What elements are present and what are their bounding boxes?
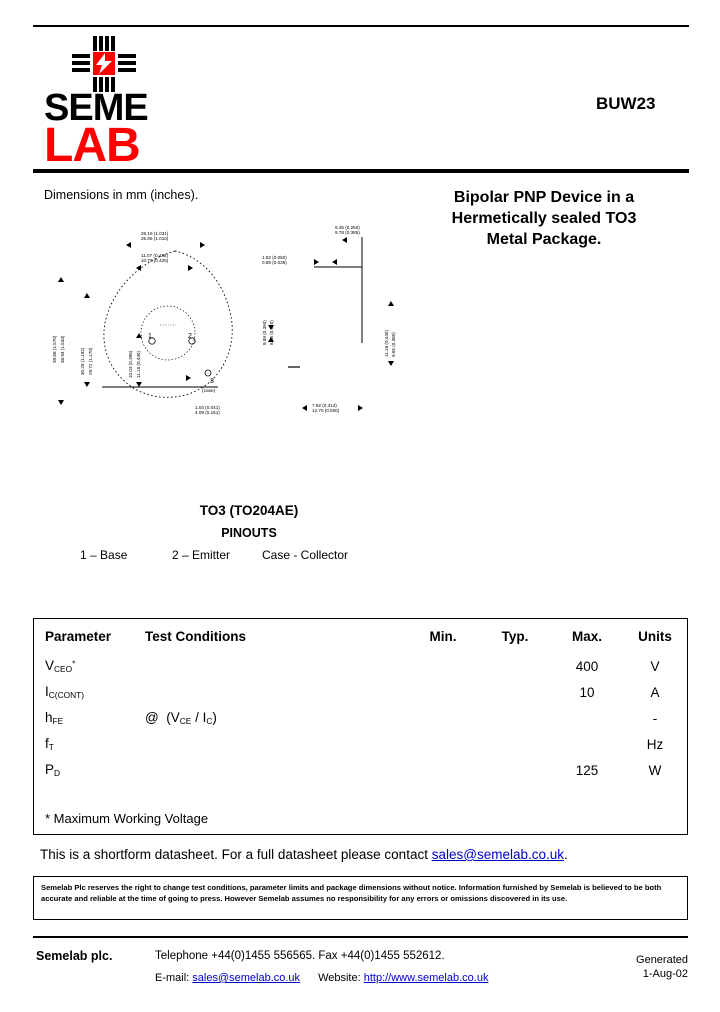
- dimensions-note: Dimensions in mm (inches).: [44, 188, 198, 202]
- table-row: VCEO* 400 V: [34, 653, 687, 679]
- param-min: [407, 705, 479, 731]
- dim-arrow-left-top2: [136, 265, 141, 271]
- param-typ: [479, 679, 551, 705]
- semelab-logo: SEME LAB: [44, 36, 224, 164]
- dim-side-lead-len2: 9.65 (0.380): [391, 332, 396, 357]
- dim-pin-spacing: 10.03 (0.395): [128, 351, 133, 378]
- dim-arrow-bottom-left: [302, 405, 307, 411]
- dim-left-height-outer2: 38.94 (1.533): [60, 336, 65, 363]
- param-symbol-ft: fT: [34, 731, 145, 757]
- dim-arrow-pin3: [186, 375, 191, 381]
- param-typ: [479, 705, 551, 731]
- to3-top-view: [40, 215, 280, 440]
- pin-label-3: 3: [210, 378, 214, 385]
- parameter-table-grid: Parameter Test Conditions Min. Typ. Max.…: [34, 619, 687, 783]
- dim-left-height-inner2: 29.72 (1.170): [88, 348, 93, 375]
- param-conditions: [145, 653, 407, 679]
- footer-generated: Generated 1-Aug-02: [570, 953, 688, 981]
- dim-side-height: 8.89 (0.350): [262, 320, 267, 345]
- package-outline-drawing: 26.19 (1.031)25.65 (1.010) 11.07 (0.436)…: [40, 215, 450, 440]
- package-name: TO3 (TO204AE): [0, 503, 498, 518]
- param-symbol-pd: PD: [34, 757, 145, 783]
- col-header-conditions: Test Conditions: [145, 619, 407, 653]
- param-min: [407, 731, 479, 757]
- shortform-text-after: .: [564, 847, 568, 862]
- header-rule-top: [33, 25, 689, 27]
- dim-arrow-left-top: [126, 242, 131, 248]
- param-max: 125: [551, 757, 623, 783]
- dim-pin-spacing2: 11.18 (0.440): [136, 351, 141, 378]
- dim-arrow-right-top: [200, 242, 205, 248]
- param-units: A: [623, 679, 687, 705]
- dim-arrow-down-left2: [84, 382, 90, 387]
- footer-generated-label: Generated: [570, 953, 688, 967]
- table-header-row: Parameter Test Conditions Min. Typ. Max.…: [34, 619, 687, 653]
- dim-left-height-inner: 30.28 (1.192): [80, 348, 85, 375]
- table-row: hFE @ (VCE / IC) -: [34, 705, 687, 731]
- footer-company-name: Semelab plc.: [36, 949, 112, 963]
- pinout-item-1: 1 – Base: [80, 548, 127, 562]
- dim-top-width-inner: 11.07 (0.436)10.79 (0.425): [141, 253, 168, 263]
- param-max: [551, 731, 623, 757]
- param-units: -: [623, 705, 687, 731]
- param-units: Hz: [623, 731, 687, 757]
- dim-arrow-bottom-right: [358, 405, 363, 411]
- parameter-table-body: VCEO* 400 V IC(CONT) 10 A: [34, 653, 687, 783]
- col-header-units: Units: [623, 619, 687, 653]
- col-header-min: Min.: [407, 619, 479, 653]
- dim-left-height-outer: 39.88 (1.570): [52, 336, 57, 363]
- param-typ: [479, 731, 551, 757]
- param-typ: [479, 757, 551, 783]
- col-header-max: Max.: [551, 619, 623, 653]
- legal-disclaimer: Semelab Plc reserves the right to change…: [33, 876, 688, 920]
- param-symbol-hfe: hFE: [34, 705, 145, 731]
- dim-arrow-down-left: [58, 400, 64, 405]
- footer-rule: [33, 936, 688, 938]
- col-header-parameter: Parameter: [34, 619, 145, 653]
- device-title-line1: Bipolar PNP Device in a: [398, 187, 690, 208]
- pinout-item-2: 2 – Emitter: [172, 548, 230, 562]
- logo-lab-text: LAB: [44, 125, 224, 167]
- col-header-typ: Typ.: [479, 619, 551, 653]
- param-symbol-vceo: VCEO*: [34, 653, 145, 679]
- dim-arrow-side-flange-right: [314, 259, 319, 265]
- param-conditions: [145, 731, 407, 757]
- footer-website-link[interactable]: http://www.semelab.co.uk: [364, 972, 489, 984]
- pin-label-1: 1: [148, 333, 152, 340]
- dim-arrow-up-left: [58, 277, 64, 282]
- parameter-table: Parameter Test Conditions Min. Typ. Max.…: [33, 618, 688, 835]
- pin-label-2: 2: [188, 333, 192, 340]
- dim-arrow-down-mid: [136, 382, 142, 387]
- dim-bottom-width: 7.92 (0.312)12.70 (0.500): [312, 403, 339, 413]
- dim-arrow-side-lead-down: [388, 361, 394, 366]
- param-min: [407, 757, 479, 783]
- parameter-table-head: Parameter Test Conditions Min. Typ. Max.…: [34, 619, 687, 653]
- dim-side-lead-len: 11.18 (0.440): [384, 330, 389, 357]
- param-min: [407, 653, 479, 679]
- datasheet-page: SEME LAB BUW23 Dimensions in mm (inches)…: [0, 0, 720, 1012]
- param-symbol-ic-cont: IC(CONT): [34, 679, 145, 705]
- dim-arrow-right-top2: [188, 265, 193, 271]
- param-conditions: [145, 757, 407, 783]
- footer-email-link[interactable]: sales@semelab.co.uk: [192, 972, 300, 984]
- param-conditions-hfe: @ (VCE / IC): [145, 705, 407, 731]
- pinouts-heading: PINOUTS: [0, 526, 498, 540]
- param-conditions: [145, 679, 407, 705]
- dim-side-height2: 8.13 (0.320): [269, 320, 274, 345]
- dim-arrow-side-flange-left: [332, 259, 337, 265]
- shortform-email-link[interactable]: sales@semelab.co.uk: [432, 847, 564, 862]
- pinout-item-case: Case - Collector: [262, 548, 348, 562]
- part-number: BUW23: [596, 94, 656, 114]
- dim-side-flange: 1.52 (0.060)0.89 (0.035): [262, 255, 287, 265]
- table-row: IC(CONT) 10 A: [34, 679, 687, 705]
- footer-generated-date: 1-Aug-02: [570, 967, 688, 981]
- dim-top-width-outer: 26.19 (1.031)25.65 (1.010): [141, 231, 168, 241]
- to3-side-view: [258, 215, 423, 440]
- semelab-wordmark: SEME LAB: [44, 92, 224, 167]
- footer-website-label: Website:: [318, 972, 364, 984]
- param-max: [551, 705, 623, 731]
- shortform-text-before: This is a shortform datasheet. For a ful…: [40, 847, 432, 862]
- table-row: PD 125 W: [34, 757, 687, 783]
- dim-arrow-side-top-left: [342, 237, 347, 243]
- table-footnote: * Maximum Working Voltage: [45, 811, 208, 826]
- param-max: 10: [551, 679, 623, 705]
- param-max: 400: [551, 653, 623, 679]
- param-min: [407, 679, 479, 705]
- dim-arrow-up-left2: [84, 293, 90, 298]
- dim-side-top-thk: 6.35 (0.250)9.78 (0.385): [335, 225, 360, 235]
- footer-email-label: E-mail:: [155, 972, 192, 984]
- semelab-chip-icon: [72, 36, 138, 92]
- dim-pin-dia: 1.04 (0.041)4.09 (0.161): [195, 405, 220, 415]
- header-rule-bottom: [33, 169, 689, 173]
- footer-telephone: Telephone +44(0)1455 556565. Fax +44(0)1…: [155, 950, 445, 962]
- footer-contact-line: E-mail: sales@semelab.co.ukWebsite: http…: [155, 972, 488, 984]
- table-row: fT Hz: [34, 731, 687, 757]
- param-units: V: [623, 653, 687, 679]
- param-typ: [479, 653, 551, 679]
- param-units: W: [623, 757, 687, 783]
- dim-arrow-up-mid: [136, 333, 142, 338]
- pin-3-case-note: (case): [202, 389, 215, 394]
- dim-arrow-side-lead-up: [388, 301, 394, 306]
- shortform-notice: This is a shortform datasheet. For a ful…: [40, 847, 568, 862]
